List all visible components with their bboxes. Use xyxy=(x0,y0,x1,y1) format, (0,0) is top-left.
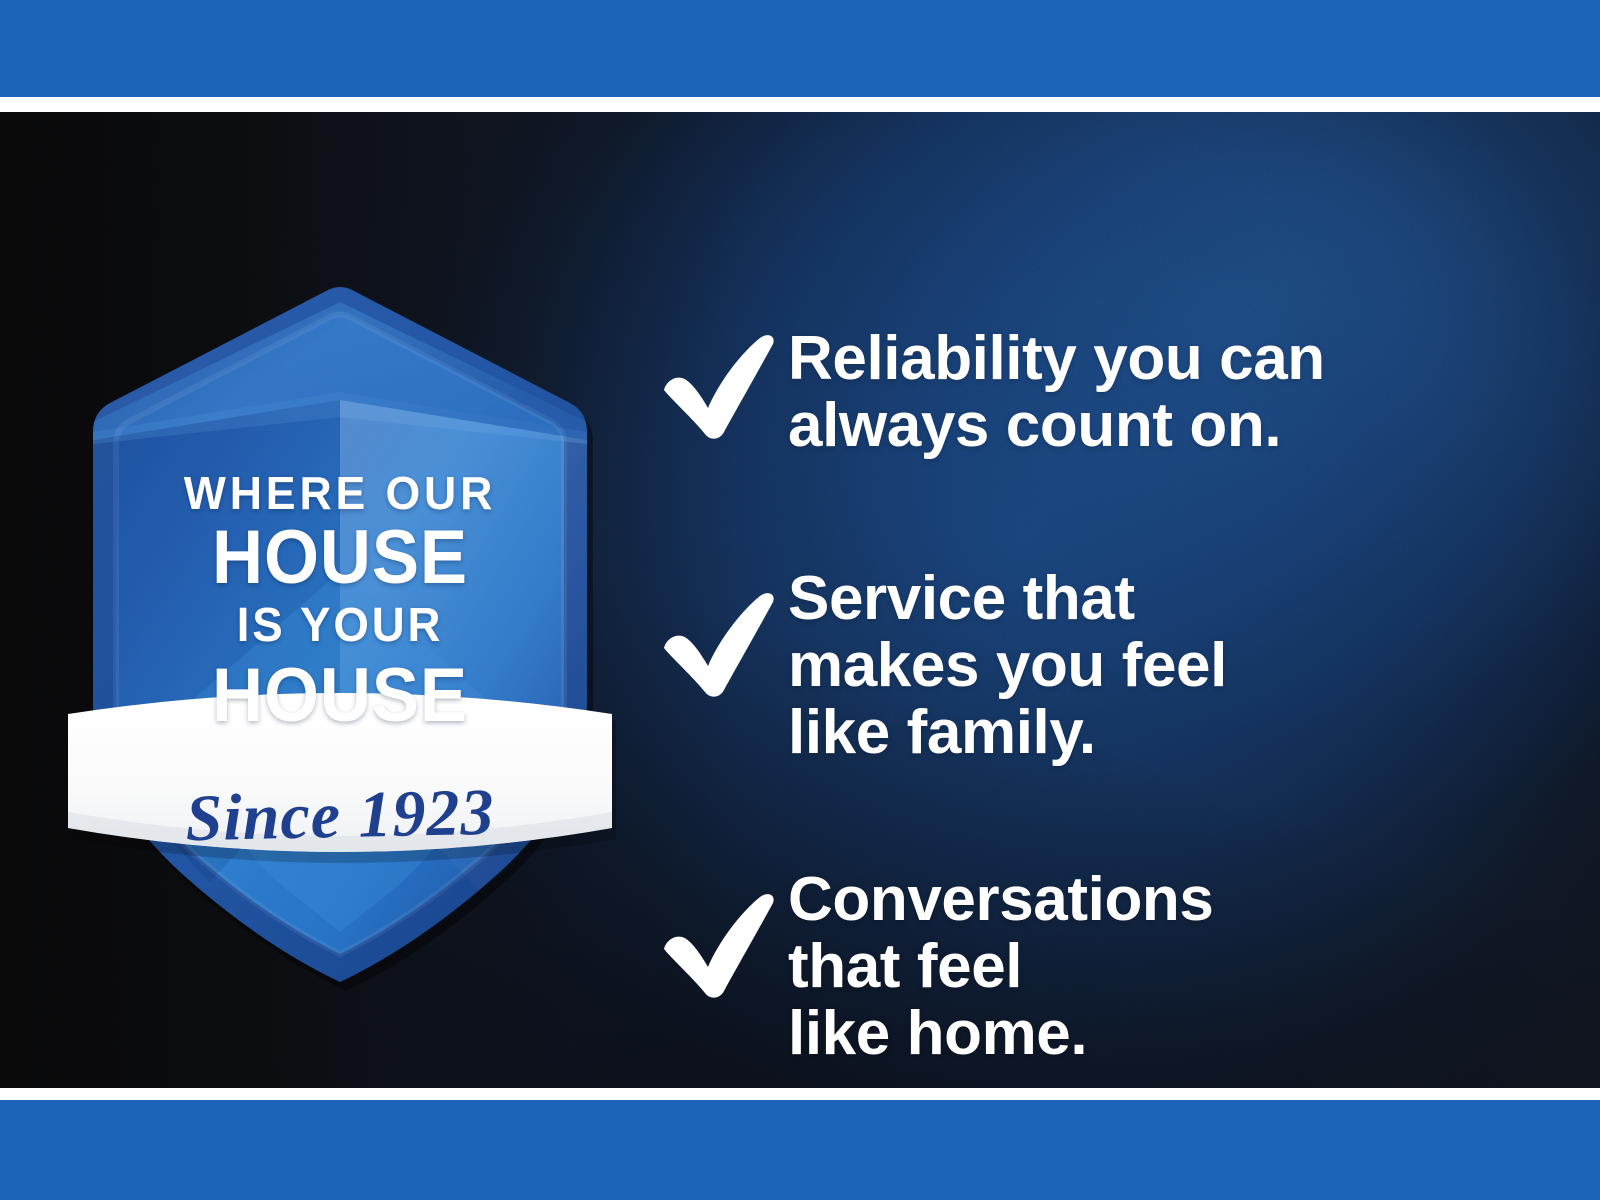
ribbon-banner-icon xyxy=(68,693,616,863)
shield-logo: Where Our House Is Your House Since 1923 xyxy=(60,272,620,912)
shield-badge-icon xyxy=(60,272,620,912)
benefit-item: Service that makes you feel like family. xyxy=(660,566,1540,767)
promo-graphic: Where Our House Is Your House Since 1923… xyxy=(0,0,1600,1200)
benefit-text: Reliability you can always count on. xyxy=(788,326,1540,460)
benefit-text: Conversations that feel like home. xyxy=(788,867,1540,1068)
benefit-text: Service that makes you feel like family. xyxy=(788,566,1540,767)
top-brand-bar xyxy=(0,0,1600,97)
benefits-list: Reliability you can always count on. Ser… xyxy=(660,312,1540,1068)
check-icon xyxy=(660,867,788,1003)
bottom-brand-bar xyxy=(0,1100,1600,1200)
benefit-item: Conversations that feel like home. xyxy=(660,867,1540,1068)
bottom-white-rule xyxy=(0,1088,1600,1100)
check-icon xyxy=(660,566,788,702)
check-icon xyxy=(660,326,788,444)
main-canvas: Where Our House Is Your House Since 1923… xyxy=(0,112,1600,1088)
top-white-rule xyxy=(0,97,1600,112)
benefit-item: Reliability you can always count on. xyxy=(660,326,1540,460)
